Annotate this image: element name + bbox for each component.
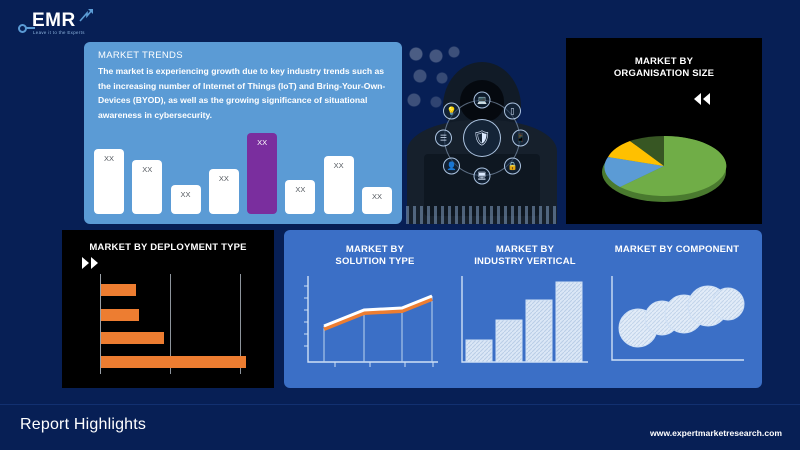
logo-tagline: Leave it to the Experts [33,30,85,35]
trends-bar: XX [209,169,239,214]
trends-bar-label: XX [257,138,267,147]
footer-divider [0,404,800,405]
trends-bar: XX [285,180,315,214]
trends-bar: XX [171,185,201,214]
lock-icon: 🔒 [504,158,521,175]
market-by-deployment-type-card: MARKET BY DEPLOYMENT TYPE [62,230,274,388]
industry-bar [556,282,582,362]
server-icon: ☰ [435,130,452,147]
growth-arrow-icon [78,8,94,24]
solution-type-line-chart [300,272,442,370]
deployment-bar [101,309,139,321]
mobile-icon: 📱 [512,130,529,147]
trends-bar-label: XX [104,154,114,163]
solution-x-ticks [335,362,433,367]
deployment-bar [101,332,164,344]
market-trends-bar-chart: XX XX XX XX XX XX XX XX [94,124,392,214]
footer-title: Report Highlights [20,416,146,434]
double-chevron-right-icon [80,256,100,270]
component-bubbles [619,286,744,347]
trends-bar-label: XX [295,185,305,194]
footer-url[interactable]: www.expertmarketresearch.com [650,428,782,438]
cybersecurity-image: 🛡 💻 🖥 📱 ☰ ▯ 💡 🔒 👤 [406,38,558,224]
component-title: MARKET BY COMPONENT [602,244,752,256]
infographic-page: EMR Leave it to the Experts MARKET TREND… [0,0,800,450]
laptop-node-icon: 💻 [474,92,491,109]
bottom-charts-panel: MARKET BY SOLUTION TYPE MARKET BY I [284,230,762,388]
industry-vertical-title: MARKET BY INDUSTRY VERTICAL [450,244,600,268]
market-trends-body: The market is experiencing growth due to… [98,64,388,122]
solution-type-title-line1: MARKET BY [300,244,450,256]
data-bars-overlay [406,206,558,224]
trends-bar-highlighted: XX [247,133,277,214]
deployment-bar [101,284,136,296]
component-bubble-chart [604,272,750,370]
trends-bar: XX [362,187,392,214]
industry-vertical-title-line1: MARKET BY [450,244,600,256]
solution-type-title: MARKET BY SOLUTION TYPE [300,244,450,268]
deployment-bar [101,356,246,368]
market-trends-title: MARKET TRENDS [98,50,183,61]
trends-bar: XX [94,149,124,214]
solution-axes [308,276,438,362]
organisation-size-title-line1: MARKET BY [566,56,762,68]
organisation-size-title: MARKET BY ORGANISATION SIZE [566,56,762,80]
logo-wordmark: EMR [32,10,76,32]
user-icon: 👤 [443,158,460,175]
deployment-type-bar-chart [100,274,258,374]
emr-logo[interactable]: EMR Leave it to the Experts [16,8,126,42]
pie-top [604,136,726,196]
trends-bar-label: XX [334,161,344,170]
trends-bar-label: XX [372,192,382,201]
market-by-organisation-size-card: MARKET BY ORGANISATION SIZE [566,38,762,224]
tablet-icon: ▯ [504,103,521,120]
monitor-icon: 🖥 [474,168,491,185]
market-trends-card: MARKET TRENDS The market is experiencing… [84,42,402,224]
double-chevron-left-icon [692,92,712,106]
solution-type-title-line2: SOLUTION TYPE [300,256,450,268]
trends-bar-label: XX [142,165,152,174]
trends-bar-label: XX [181,190,191,199]
industry-bar [496,320,522,362]
industry-bar [526,300,552,362]
trends-bar: XX [132,160,162,214]
trends-bar: XX [324,156,354,215]
industry-bar [466,340,492,362]
industry-vertical-bar-chart [456,272,592,370]
deployment-type-title: MARKET BY DEPLOYMENT TYPE [62,242,274,254]
industry-vertical-title-line2: INDUSTRY VERTICAL [450,256,600,268]
organisation-size-title-line2: ORGANISATION SIZE [566,68,762,80]
trends-bar-label: XX [219,174,229,183]
shield-check-icon: 🛡 [463,119,501,157]
organisation-size-pie-chart [589,116,739,206]
lightbulb-icon: 💡 [443,103,460,120]
